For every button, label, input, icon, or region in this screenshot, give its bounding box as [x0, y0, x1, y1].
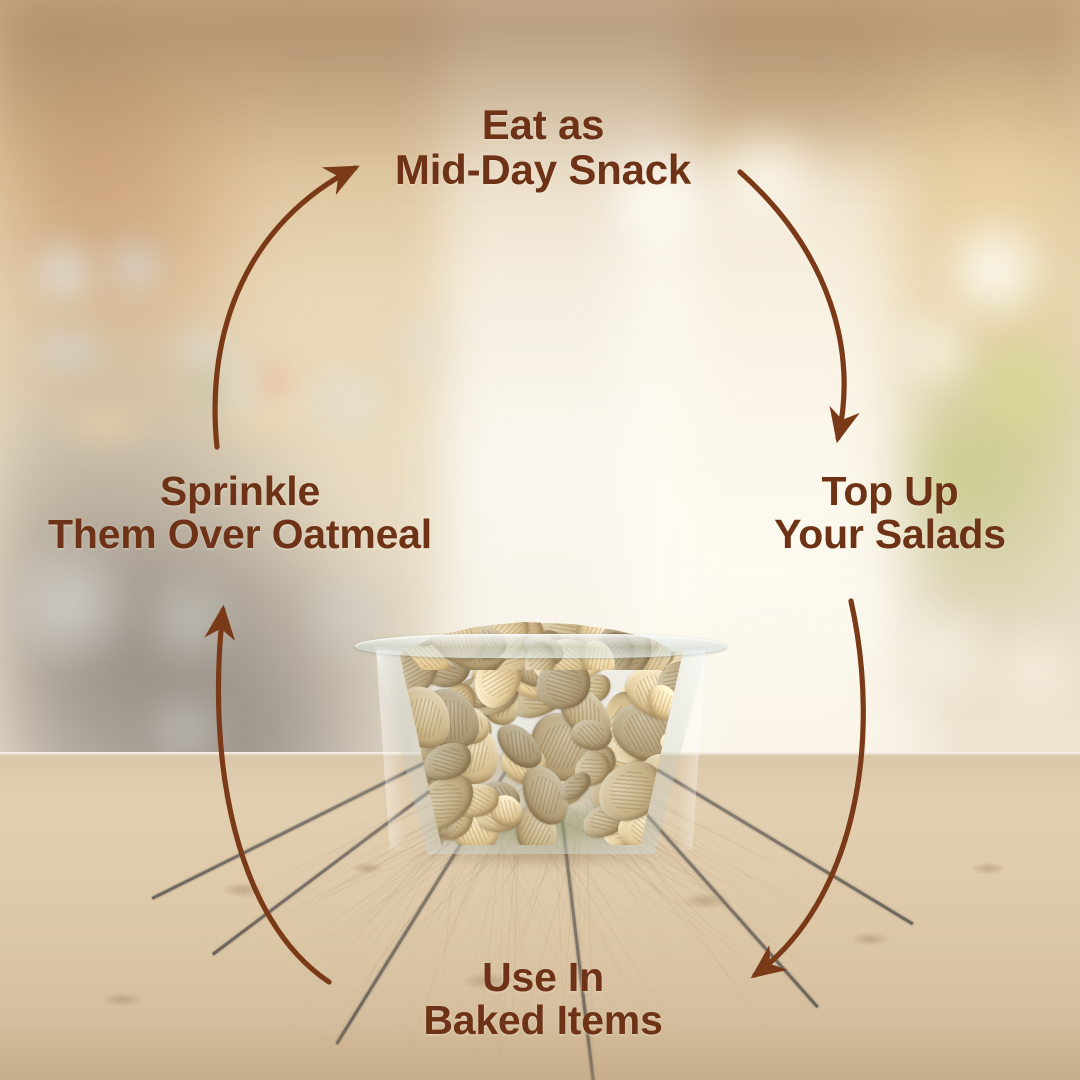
container-rim — [355, 634, 727, 658]
step-label-mid-day-snack: Eat as Mid-Day Snack — [243, 103, 843, 192]
step-label-baked-items: Use In Baked Items — [283, 956, 803, 1043]
wood-knot — [850, 932, 890, 946]
bokeh-light — [96, 236, 174, 298]
bokeh-light — [8, 330, 128, 370]
container-highlight-left — [376, 650, 406, 850]
bokeh-light — [30, 408, 180, 442]
bokeh-light — [372, 300, 462, 388]
bokeh-light — [980, 620, 1080, 720]
step-label-over-oatmeal: Sprinkle Them Over Oatmeal — [0, 470, 520, 557]
bokeh-light — [252, 362, 298, 406]
wood-knot — [350, 862, 384, 874]
bokeh-light — [140, 560, 236, 680]
wood-knot — [680, 892, 730, 910]
infographic-canvas: Eat as Mid-Day Snack Top Up Your Salads … — [0, 0, 1080, 1080]
walnut-container — [350, 620, 732, 860]
wood-knot — [100, 992, 144, 1007]
wood-knot — [970, 862, 1006, 875]
bokeh-light — [330, 372, 388, 428]
container-highlight-right — [676, 650, 706, 850]
step-label-top-up-salads: Top Up Your Salads — [690, 470, 1080, 557]
bokeh-light — [186, 368, 230, 410]
wood-knot — [220, 882, 266, 898]
